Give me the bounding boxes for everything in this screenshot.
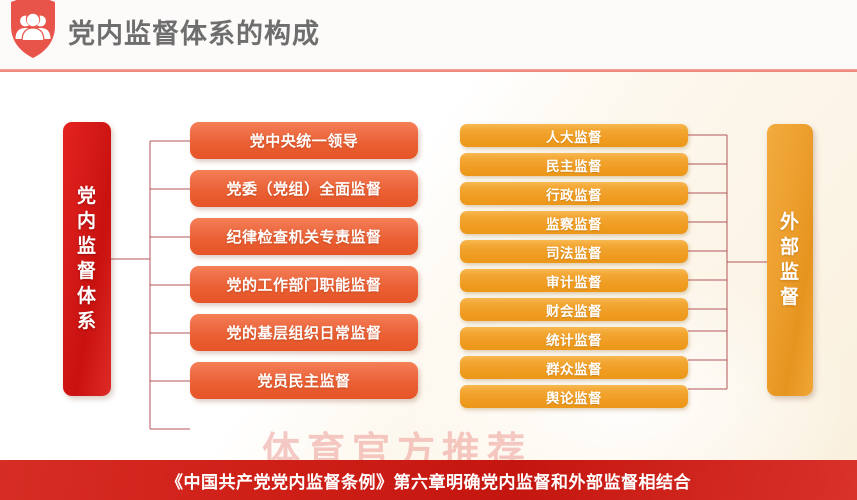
pillar-char: 监 [780,260,800,285]
pillar-char: 督 [780,285,800,310]
pillar-char: 体 [77,284,97,309]
right-node-item[interactable]: 群众监督 [460,356,688,379]
right-node-item[interactable]: 行政监督 [460,182,688,205]
pillar-char: 督 [77,259,97,284]
right-node-item[interactable]: 审计监督 [460,269,688,292]
pillar-char: 监 [77,234,97,259]
footer-caption: 《中国共产党党内监督条例》第六章明确党内监督和外部监督相结合 [166,468,691,493]
page-title: 党内监督体系的构成 [68,12,320,51]
left-node-item[interactable]: 党委（党组）全面监督 [190,170,418,207]
right-node-item[interactable]: 人大监督 [460,124,688,147]
pillar-char: 系 [77,309,97,334]
pillar-char: 部 [780,235,800,260]
right-node-item[interactable]: 民主监督 [460,153,688,176]
right-node-item[interactable]: 财会监督 [460,298,688,321]
pillar-char: 外 [780,210,800,235]
left-pillar-party-internal-supervision-system[interactable]: 党 内 监 督 体 系 [63,122,111,396]
right-pillar-external-supervision[interactable]: 外 部 监 督 [767,124,813,396]
right-node-item[interactable]: 统计监督 [460,327,688,350]
pillar-char: 党 [77,184,97,209]
left-node-item[interactable]: 党员民主监督 [190,362,418,399]
diagram-canvas: 党 内 监 督 体 系 外 部 监 督 党中央统一领导 党委（党组）全面监督 纪… [0,72,857,460]
right-node-item[interactable]: 司法监督 [460,240,688,263]
slide-header: 党内监督体系的构成 [0,0,857,70]
footer-banner: 《中国共产党党内监督条例》第六章明确党内监督和外部监督相结合 [0,460,857,500]
connector-lines [0,72,857,460]
pillar-char: 内 [77,209,97,234]
left-node-item[interactable]: 党中央统一领导 [190,122,418,159]
right-node-item[interactable]: 舆论监督 [460,385,688,408]
slide-root: 党内监督体系的构成 [0,0,857,500]
left-node-item[interactable]: 党的基层组织日常监督 [190,314,418,351]
shield-people-icon [9,0,57,58]
right-node-item[interactable]: 监察监督 [460,211,688,234]
left-node-item[interactable]: 纪律检查机关专责监督 [190,218,418,255]
left-node-item[interactable]: 党的工作部门职能监督 [190,266,418,303]
